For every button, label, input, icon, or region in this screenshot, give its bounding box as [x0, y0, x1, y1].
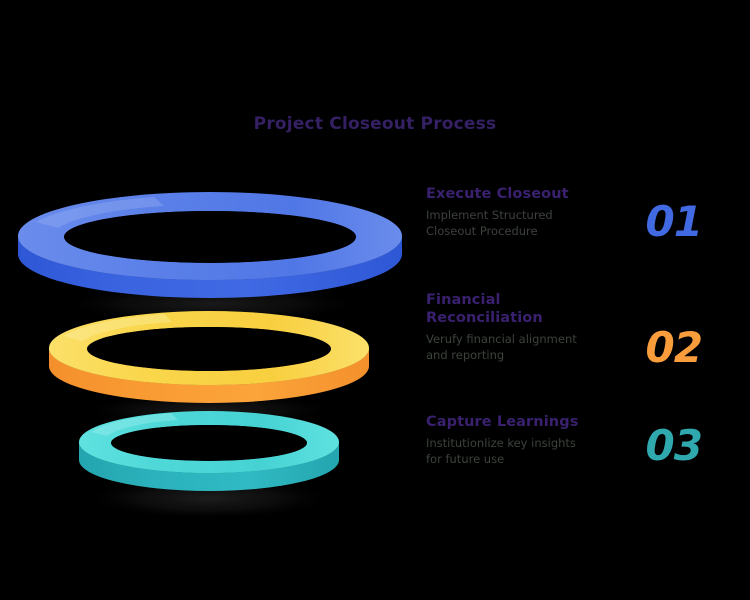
step-1-number: 01: [646, 201, 702, 243]
ring-3-hole: [111, 425, 307, 461]
step-3-text: Capture Learnings Institutionlize key in…: [426, 413, 626, 467]
step-2-title: Financial Reconciliation: [426, 291, 626, 327]
page-title: Project Closeout Process: [0, 114, 750, 134]
ring-2-hole: [87, 327, 331, 371]
step-1-text: Execute Closeout Implement Structured Cl…: [426, 185, 626, 239]
funnel-ring-1[interactable]: [14, 192, 406, 322]
step-2-description: Verufy financial alignment and reporting: [426, 331, 626, 363]
step-3-description: Institutionlize key insights for future …: [426, 435, 626, 467]
ring-1-hole: [64, 211, 356, 263]
funnel-ring-3[interactable]: [76, 410, 342, 522]
step-2-number: 02: [646, 327, 702, 369]
step-1-description: Implement Structured Closeout Procedure: [426, 207, 626, 239]
step-3-title: Capture Learnings: [426, 413, 626, 431]
step-1-title-line-1: Execute Closeout: [426, 185, 626, 203]
step-2-title-line-2: Reconciliation: [426, 309, 626, 327]
step-1-title: Execute Closeout: [426, 185, 626, 203]
infographic-canvas: Project Closeout Process: [0, 0, 750, 600]
step-3-number: 03: [646, 425, 702, 467]
step-2-title-line-1: Financial: [426, 291, 626, 309]
step-2-text: Financial Reconciliation Verufy financia…: [426, 291, 626, 363]
step-3-title-line-1: Capture Learnings: [426, 413, 626, 431]
steps-list: Execute Closeout Implement Structured Cl…: [420, 185, 750, 515]
funnel-diagram: [0, 170, 420, 530]
